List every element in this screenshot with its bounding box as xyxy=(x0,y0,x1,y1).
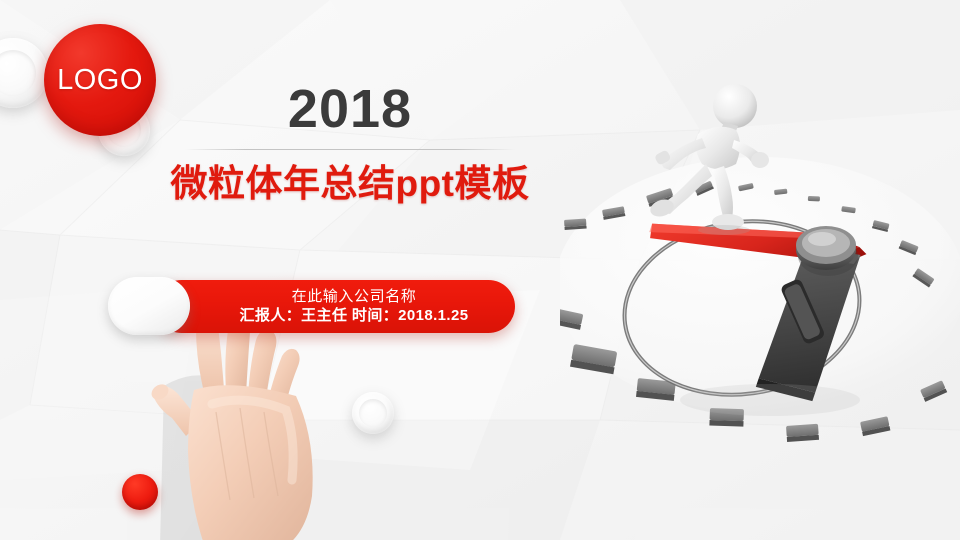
presenter-and-date: 汇报人：王主任 时间：2018.1.25 xyxy=(240,307,469,326)
logo-text: LOGO xyxy=(57,66,143,95)
year-heading: 2018 xyxy=(150,82,550,136)
company-info-banner[interactable]: 在此输入公司名称 汇报人：王主任 时间：2018.1.25 xyxy=(155,280,515,333)
running-figure-artwork xyxy=(640,78,790,238)
logo-badge[interactable]: LOGO xyxy=(44,24,156,136)
banner-toggle-knob[interactable] xyxy=(108,277,190,335)
decorative-circle-bottom xyxy=(352,392,394,434)
hand-artwork xyxy=(120,300,380,540)
title-divider xyxy=(185,149,515,150)
headline-block: 2018 微粒体年总结ppt模板 xyxy=(150,82,550,204)
page-title: 微粒体年总结ppt模板 xyxy=(150,163,550,204)
company-name-placeholder: 在此输入公司名称 xyxy=(292,288,417,307)
decorative-red-dot xyxy=(122,474,158,510)
presentation-slide: LOGO 2018 微粒体年总结ppt模板 在此输入公司名称 汇报人：王主任 时… xyxy=(0,0,960,540)
